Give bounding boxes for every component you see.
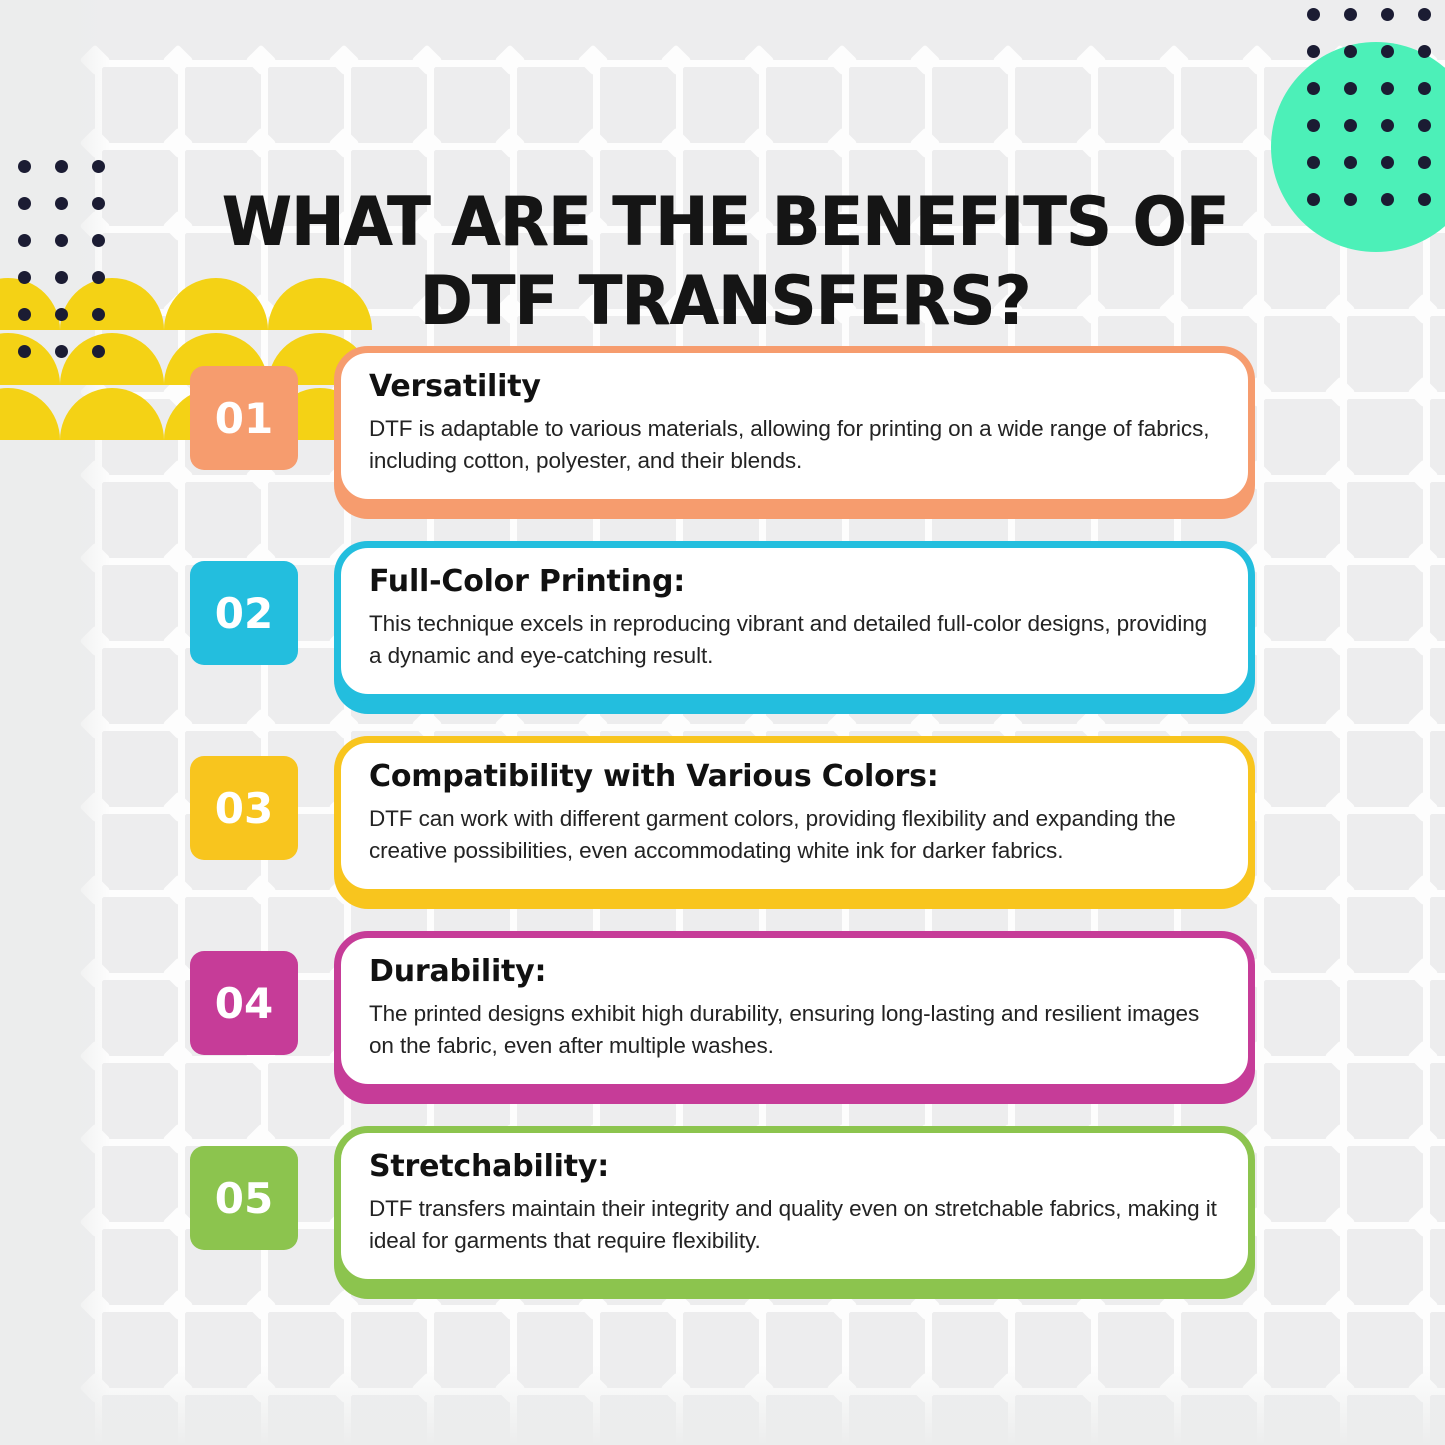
grid-diamond	[909, 127, 940, 158]
benefits-list: VersatilityDTF is adaptable to various m…	[0, 341, 1445, 1316]
decorative-dot	[1381, 8, 1394, 21]
benefit-number-label: 03	[215, 784, 273, 833]
decorative-dot	[1307, 156, 1320, 169]
benefit-number-badge: 05	[190, 1146, 298, 1250]
benefit-heading: Stretchability:	[369, 1150, 1218, 1183]
grid-diamond	[494, 127, 525, 158]
decorative-dot	[18, 197, 31, 210]
page-title: WHAT ARE THE BENEFITS OF DTF TRANSFERS?	[204, 183, 1246, 342]
decorative-dot	[1381, 45, 1394, 58]
benefit-heading: Full-Color Printing:	[369, 565, 1218, 598]
decorative-dot	[1344, 156, 1357, 169]
decorative-dot	[55, 197, 68, 210]
benefit-heading: Compatibility with Various Colors:	[369, 760, 1218, 793]
background-fade-bottom	[0, 1365, 1445, 1445]
grid-diamond	[162, 210, 193, 241]
decorative-dot	[18, 271, 31, 284]
benefit-item: Compatibility with Various Colors:DTF ca…	[0, 731, 1445, 926]
decorative-dot	[1307, 8, 1320, 21]
benefit-item: Full-Color Printing:This technique excel…	[0, 536, 1445, 731]
benefit-number-badge: 02	[190, 561, 298, 665]
grid-diamond	[992, 127, 1023, 158]
infographic-poster: WHAT ARE THE BENEFITS OF DTF TRANSFERS? …	[0, 0, 1445, 1445]
decorative-dot	[92, 160, 105, 173]
decorative-dot	[1418, 8, 1431, 21]
benefit-description: The printed designs exhibit high durabil…	[369, 998, 1218, 1062]
decorative-dot	[55, 308, 68, 321]
benefit-number-badge: 01	[190, 366, 298, 470]
decorative-dot	[1418, 156, 1431, 169]
benefit-number-label: 05	[215, 1174, 273, 1223]
decorative-dot	[1344, 8, 1357, 21]
benefit-number-badge: 04	[190, 951, 298, 1055]
decorative-dot	[1307, 193, 1320, 206]
grid-diamond	[1407, 293, 1438, 324]
grid-diamond	[162, 127, 193, 158]
decorative-dot	[1381, 193, 1394, 206]
grid-diamond	[826, 127, 857, 158]
decorative-dot	[92, 271, 105, 284]
benefit-heading: Durability:	[369, 955, 1218, 988]
decorative-dot	[1344, 82, 1357, 95]
decorative-dot	[1381, 119, 1394, 132]
decorative-dot	[55, 160, 68, 173]
decorative-dot	[1344, 45, 1357, 58]
grid-diamond	[411, 127, 442, 158]
grid-diamond	[328, 127, 359, 158]
decorative-dot	[55, 234, 68, 247]
benefit-number-badge: 03	[190, 756, 298, 860]
dot-grid-top-left-icon	[0, 160, 110, 370]
benefit-description: DTF is adaptable to various materials, a…	[369, 413, 1218, 477]
dot-grid-top-right-icon	[1295, 0, 1445, 180]
benefit-description: This technique excels in reproducing vib…	[369, 608, 1218, 672]
decorative-dot	[92, 308, 105, 321]
benefit-card: Stretchability:DTF transfers maintain th…	[334, 1126, 1255, 1286]
grid-diamond	[743, 127, 774, 158]
benefit-card: VersatilityDTF is adaptable to various m…	[334, 346, 1255, 506]
grid-diamond	[1241, 210, 1272, 241]
benefit-description: DTF transfers maintain their integrity a…	[369, 1193, 1218, 1257]
grid-diamond	[660, 127, 691, 158]
decorative-dot	[1307, 119, 1320, 132]
benefit-card: Compatibility with Various Colors:DTF ca…	[334, 736, 1255, 896]
benefit-item: Stretchability:DTF transfers maintain th…	[0, 1121, 1445, 1316]
benefit-card: Full-Color Printing:This technique excel…	[334, 541, 1255, 701]
benefit-card: Durability:The printed designs exhibit h…	[334, 931, 1255, 1091]
decorative-dot	[1381, 156, 1394, 169]
benefit-description: DTF can work with different garment colo…	[369, 803, 1218, 867]
decorative-dot	[1418, 45, 1431, 58]
decorative-dot	[1307, 82, 1320, 95]
decorative-dot	[18, 234, 31, 247]
decorative-dot	[18, 160, 31, 173]
decorative-dot	[1418, 119, 1431, 132]
benefit-heading: Versatility	[369, 370, 1218, 403]
benefit-number-label: 01	[215, 394, 273, 443]
benefit-item: VersatilityDTF is adaptable to various m…	[0, 341, 1445, 536]
grid-diamond	[1324, 293, 1355, 324]
decorative-dot	[1344, 119, 1357, 132]
benefit-item: Durability:The printed designs exhibit h…	[0, 926, 1445, 1121]
decorative-dot	[18, 308, 31, 321]
decorative-dot	[1418, 82, 1431, 95]
decorative-dot	[1381, 82, 1394, 95]
decorative-dot	[1344, 193, 1357, 206]
grid-diamond	[1158, 127, 1189, 158]
grid-diamond	[1241, 293, 1272, 324]
grid-diamond	[245, 127, 276, 158]
decorative-dot	[92, 234, 105, 247]
grid-diamond	[577, 127, 608, 158]
decorative-dot	[1307, 45, 1320, 58]
benefit-number-label: 04	[215, 979, 273, 1028]
decorative-dot	[1418, 193, 1431, 206]
grid-diamond	[1075, 127, 1106, 158]
decorative-dot	[92, 197, 105, 210]
grid-diamond	[1241, 127, 1272, 158]
benefit-number-label: 02	[215, 589, 273, 638]
decorative-dot	[55, 271, 68, 284]
